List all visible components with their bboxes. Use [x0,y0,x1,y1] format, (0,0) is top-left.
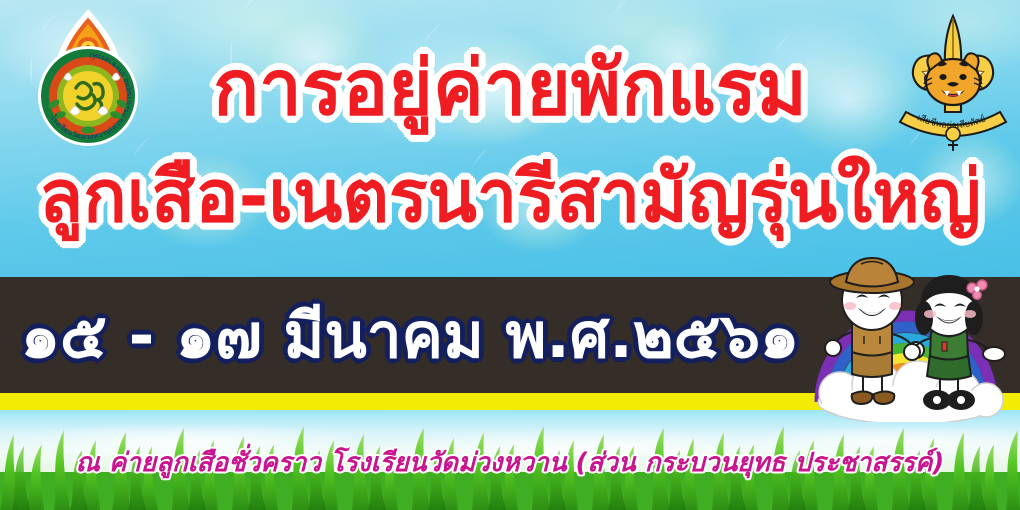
camp-banner: โรงเรียนวัดม่วงหวาน(ส่วน กระบวนยุทธ ประช… [0,0,1020,510]
banner-title-line-2: ลูกเสือ-เนตรนารีสามัญรุ่นใหญ่ [39,158,981,234]
venue-text: ณ ค่ายลูกเสือชั่วคราว โรงเรียนวัดม่วงหวา… [0,441,1020,483]
banner-title-line-1: การอยู่ค่ายพักแรม [213,48,807,129]
title-block: การอยู่ค่ายพักแรม ลูกเสือ-เนตรนารีสามัญร… [0,0,1020,268]
scout-characters-illustration [806,252,1020,422]
event-date: ๑๕ - ๑๗ มีนาคม พ.ศ.๒๕๖๑ [0,288,820,384]
